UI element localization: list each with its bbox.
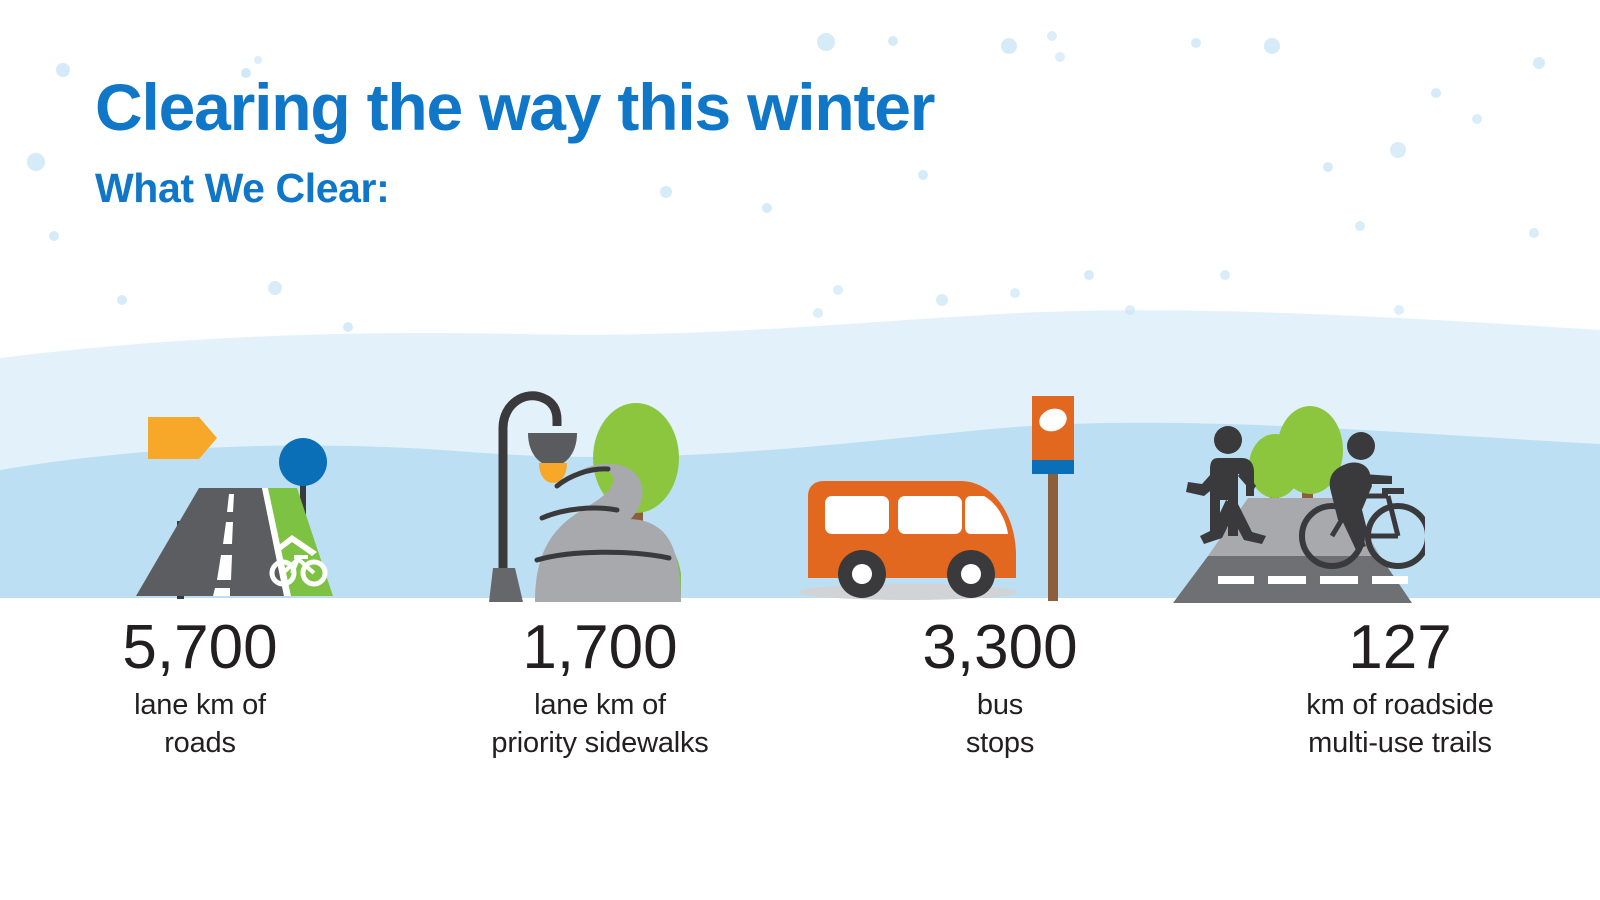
sidewalk-with-lamppost-icon: [465, 378, 700, 606]
infographic-canvas: Clearing the way this winter What We Cle…: [0, 0, 1600, 900]
stat-label-line-1: lane km of: [8, 686, 392, 724]
stat-label-line-1: bus: [808, 686, 1192, 724]
stat-column-roads: 5,700 lane km of roads: [0, 615, 400, 763]
stat-column-trails: 127 km of roadside multi-use trails: [1200, 615, 1600, 763]
stat-value: 127: [1208, 615, 1592, 680]
page-title: Clearing the way this winter: [95, 74, 934, 140]
stat-label-line-2: stops: [808, 724, 1192, 762]
bus-with-stop-sign-icon: [788, 378, 1088, 608]
trail-with-pedestrian-and-cyclist-icon: [1160, 388, 1425, 606]
stat-label: km of roadside multi-use trails: [1208, 680, 1592, 763]
stat-label-line-1: km of roadside: [1208, 686, 1592, 724]
stat-value: 1,700: [408, 615, 792, 680]
stat-label: bus stops: [808, 680, 1192, 763]
road-surface: [136, 488, 284, 596]
stat-value: 3,300: [808, 615, 1192, 680]
bus-windows: [825, 496, 1008, 534]
stat-value: 5,700: [8, 615, 392, 680]
heading-block: Clearing the way this winter What We Cle…: [95, 74, 934, 209]
page-subtitle: What We Clear:: [95, 140, 934, 209]
road-with-bike-lane-icon: [122, 390, 352, 605]
bus-stop-sign-icon: [1032, 396, 1074, 601]
stat-label-line-2: roads: [8, 724, 392, 762]
stat-label-line-1: lane km of: [408, 686, 792, 724]
stat-column-bus-stops: 3,300 bus stops: [800, 615, 1200, 763]
stat-label-line-2: priority sidewalks: [408, 724, 792, 762]
stat-label-line-2: multi-use trails: [1208, 724, 1592, 762]
stat-label: lane km of roads: [8, 680, 392, 763]
stats-row: 5,700 lane km of roads 1,700 lane km of …: [0, 615, 1600, 763]
stat-label: lane km of priority sidewalks: [408, 680, 792, 763]
stat-column-sidewalks: 1,700 lane km of priority sidewalks: [400, 615, 800, 763]
